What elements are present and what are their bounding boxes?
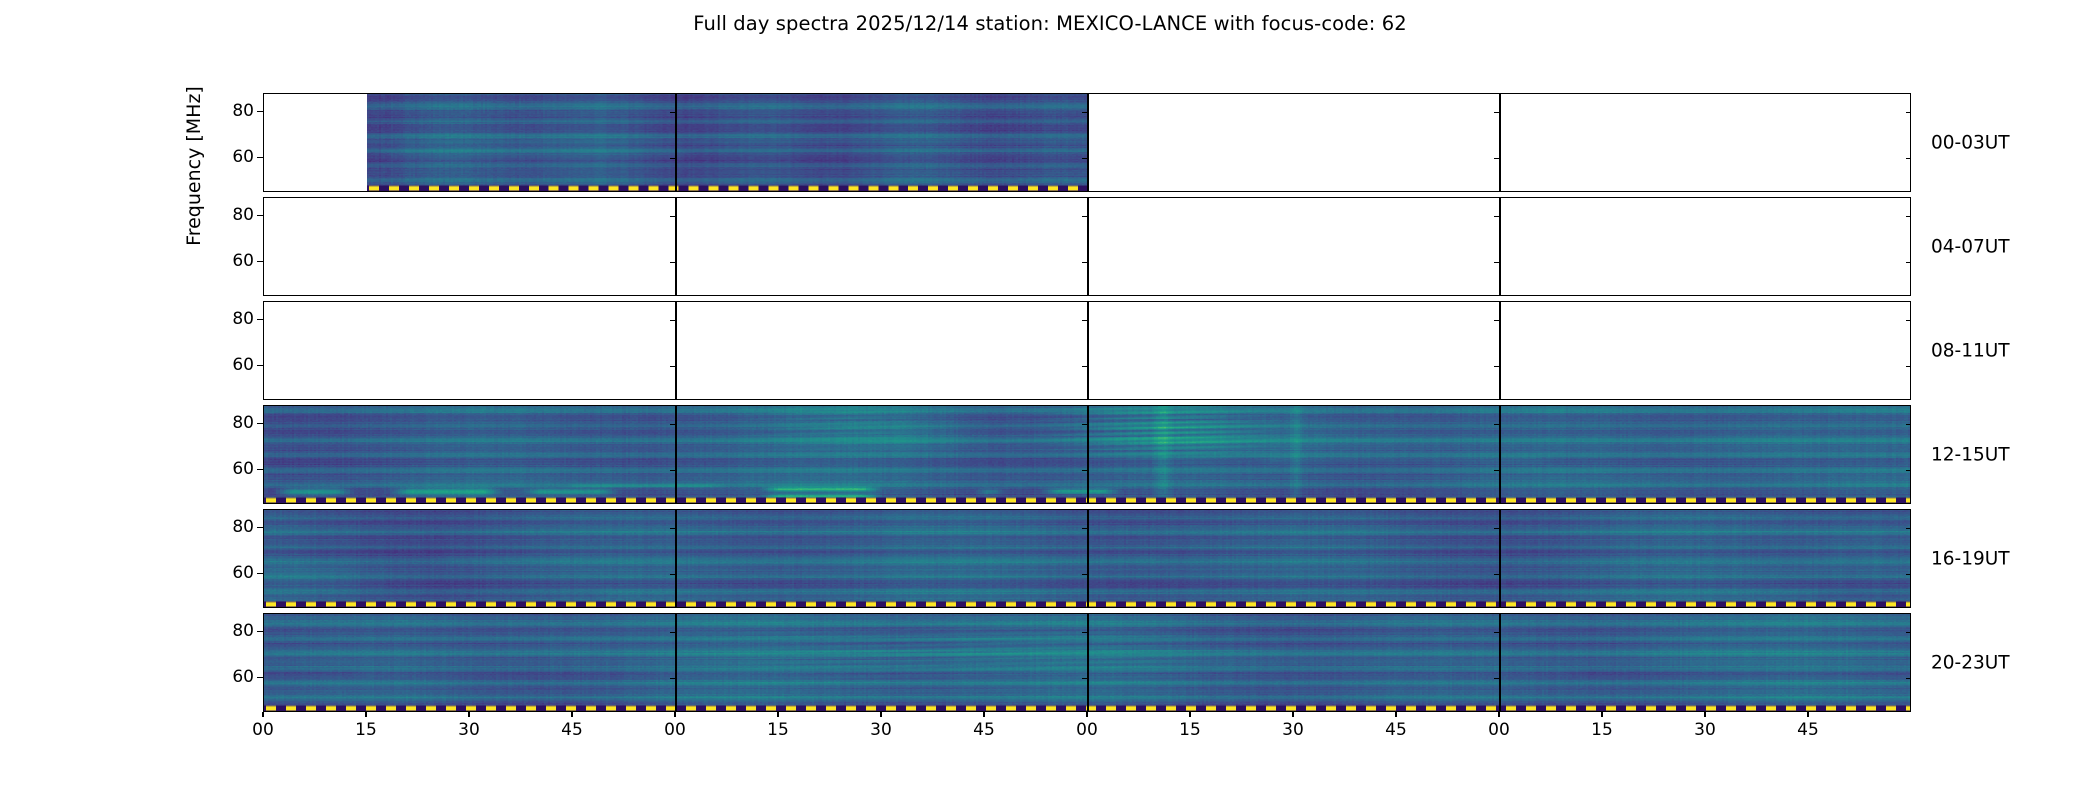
inner-y-tick	[670, 678, 676, 679]
spectra-panel-row: 806012-15UT	[263, 405, 1911, 504]
x-tick-label: 30	[1694, 720, 1716, 740]
x-tick-label: 15	[767, 720, 789, 740]
inner-y-tick	[1494, 528, 1500, 529]
x-tick-mark	[1498, 712, 1499, 717]
y-tick-mark	[257, 261, 263, 262]
spectra-panel-row: 806004-07UT	[263, 197, 1911, 296]
hour-separator-line	[1087, 510, 1088, 607]
x-tick-mark	[1601, 712, 1602, 717]
inner-y-tick	[1082, 470, 1088, 471]
inner-y-tick	[1906, 112, 1911, 113]
y-tick-label: 80	[232, 517, 254, 537]
x-tick-label: 30	[1282, 720, 1304, 740]
spectra-panel[interactable]	[263, 197, 1911, 296]
spectra-image	[367, 94, 1088, 191]
spectra-panel[interactable]	[263, 405, 1911, 504]
hour-separator-line	[675, 198, 676, 295]
x-tick-mark	[1086, 712, 1087, 717]
y-tick-mark	[257, 573, 263, 574]
hour-separator-line	[675, 406, 676, 503]
inner-y-tick	[1906, 424, 1911, 425]
inner-y-tick	[1906, 216, 1911, 217]
inner-y-tick	[1082, 632, 1088, 633]
x-tick-label: 00	[664, 720, 686, 740]
y-tick-mark	[257, 365, 263, 366]
x-tick-mark	[777, 712, 778, 717]
y-tick-label: 60	[232, 355, 254, 375]
inner-y-tick	[1082, 320, 1088, 321]
hour-separator-line	[675, 94, 676, 191]
inner-y-tick	[1906, 320, 1911, 321]
x-tick-mark	[1807, 712, 1808, 717]
inner-y-tick	[1082, 158, 1088, 159]
hour-separator-line	[1087, 198, 1088, 295]
inner-y-tick	[670, 632, 676, 633]
hour-separator-line	[675, 614, 676, 711]
inner-y-tick	[670, 424, 676, 425]
y-tick-mark	[257, 111, 263, 112]
spectra-panel-row: 806000-03UT	[263, 93, 1911, 192]
inner-y-tick	[1494, 574, 1500, 575]
hour-separator-line	[1499, 614, 1500, 711]
hour-separator-line	[1499, 510, 1500, 607]
inner-y-tick	[1906, 470, 1911, 471]
hour-separator-line	[1087, 302, 1088, 399]
panel-stack: 806000-03UT806004-07UT806008-11UT806012-…	[263, 93, 1911, 712]
y-tick-mark	[257, 319, 263, 320]
y-tick-label: 60	[232, 251, 254, 271]
inner-y-tick	[1906, 574, 1911, 575]
y-tick-mark	[257, 677, 263, 678]
y-tick-label: 80	[232, 205, 254, 225]
page-title: Full day spectra 2025/12/14 station: MEX…	[0, 12, 2100, 35]
hour-separator-line	[1087, 94, 1088, 191]
spectra-panel-row: 806020-23UT	[263, 613, 1911, 712]
x-tick-mark	[1189, 712, 1190, 717]
y-tick-mark	[257, 469, 263, 470]
inner-y-tick	[1082, 528, 1088, 529]
spectra-panel-row: 806016-19UT	[263, 509, 1911, 608]
y-tick-mark	[257, 527, 263, 528]
inner-y-tick	[670, 112, 676, 113]
panel-time-range-label: 20-23UT	[1931, 652, 2010, 673]
hour-separator-line	[1499, 302, 1500, 399]
spectra-panel[interactable]	[263, 613, 1911, 712]
x-tick-mark	[674, 712, 675, 717]
inner-y-tick	[1494, 470, 1500, 471]
inner-y-tick	[670, 262, 676, 263]
inner-y-tick	[1494, 216, 1500, 217]
spectra-panel-row: 806008-11UT	[263, 301, 1911, 400]
x-tick-label: 30	[458, 720, 480, 740]
inner-y-tick	[1906, 528, 1911, 529]
inner-y-tick	[670, 470, 676, 471]
y-axis-label-text: Frequency [MHz]	[183, 6, 205, 326]
y-tick-mark	[257, 157, 263, 158]
panel-time-range-label: 04-07UT	[1931, 236, 2010, 257]
x-tick-label: 45	[561, 720, 583, 740]
inner-y-tick	[670, 574, 676, 575]
x-tick-mark	[1395, 712, 1396, 717]
x-tick-label: 00	[1488, 720, 1510, 740]
hour-separator-line	[1499, 94, 1500, 191]
panel-time-range-label: 16-19UT	[1931, 548, 2010, 569]
y-tick-label: 60	[232, 147, 254, 167]
x-tick-mark	[262, 712, 263, 717]
inner-y-tick	[1082, 574, 1088, 575]
x-tick-mark	[571, 712, 572, 717]
inner-y-tick	[670, 366, 676, 367]
x-tick-label: 15	[1179, 720, 1201, 740]
y-tick-mark	[257, 631, 263, 632]
x-tick-label: 15	[355, 720, 377, 740]
inner-y-tick	[670, 320, 676, 321]
panel-time-range-label: 12-15UT	[1931, 444, 2010, 465]
spectrogram-figure: Full day spectra 2025/12/14 station: MEX…	[0, 0, 2100, 800]
hour-separator-line	[1499, 406, 1500, 503]
inner-y-tick	[1906, 678, 1911, 679]
hour-separator-line	[675, 302, 676, 399]
x-tick-mark	[880, 712, 881, 717]
x-axis: 00153045001530450015304500153045	[263, 712, 1911, 752]
inner-y-tick	[1494, 112, 1500, 113]
spectra-panel[interactable]	[263, 93, 1911, 192]
inner-y-tick	[1906, 158, 1911, 159]
inner-y-tick	[670, 216, 676, 217]
x-tick-mark	[1292, 712, 1293, 717]
y-tick-label: 80	[232, 101, 254, 121]
inner-y-tick	[670, 158, 676, 159]
hour-separator-line	[1087, 614, 1088, 711]
hour-separator-line	[1499, 198, 1500, 295]
inner-y-tick	[670, 528, 676, 529]
inner-y-tick	[1082, 366, 1088, 367]
inner-y-tick	[1494, 678, 1500, 679]
spectra-panel[interactable]	[263, 301, 1911, 400]
spectra-panel[interactable]	[263, 509, 1911, 608]
x-tick-mark	[365, 712, 366, 717]
x-tick-label: 00	[252, 720, 274, 740]
y-tick-label: 80	[232, 621, 254, 641]
inner-y-tick	[1494, 424, 1500, 425]
hour-separator-line	[675, 510, 676, 607]
inner-y-tick	[1082, 262, 1088, 263]
inner-y-tick	[1906, 366, 1911, 367]
inner-y-tick	[1906, 262, 1911, 263]
y-tick-label: 60	[232, 563, 254, 583]
inner-y-tick	[1494, 262, 1500, 263]
inner-y-tick	[1494, 320, 1500, 321]
inner-y-tick	[1082, 678, 1088, 679]
inner-y-tick	[1082, 112, 1088, 113]
x-tick-label: 15	[1591, 720, 1613, 740]
x-tick-mark	[1704, 712, 1705, 717]
panel-time-range-label: 08-11UT	[1931, 340, 2010, 361]
inner-y-tick	[1494, 632, 1500, 633]
inner-y-tick	[1082, 216, 1088, 217]
inner-y-tick	[1082, 424, 1088, 425]
x-tick-label: 45	[1797, 720, 1819, 740]
inner-y-tick	[1494, 366, 1500, 367]
hour-separator-line	[1087, 406, 1088, 503]
y-tick-label: 60	[232, 667, 254, 687]
x-tick-label: 30	[870, 720, 892, 740]
y-tick-label: 80	[232, 413, 254, 433]
x-tick-label: 45	[1385, 720, 1407, 740]
x-tick-label: 45	[973, 720, 995, 740]
inner-y-tick	[1906, 632, 1911, 633]
inner-y-tick	[1494, 158, 1500, 159]
y-tick-mark	[257, 423, 263, 424]
y-tick-label: 60	[232, 459, 254, 479]
y-tick-label: 80	[232, 309, 254, 329]
panel-time-range-label: 00-03UT	[1931, 132, 2010, 153]
x-tick-mark	[983, 712, 984, 717]
x-tick-label: 00	[1076, 720, 1098, 740]
y-tick-mark	[257, 215, 263, 216]
x-tick-mark	[468, 712, 469, 717]
y-axis-label: Frequency [MHz]	[183, 300, 205, 326]
